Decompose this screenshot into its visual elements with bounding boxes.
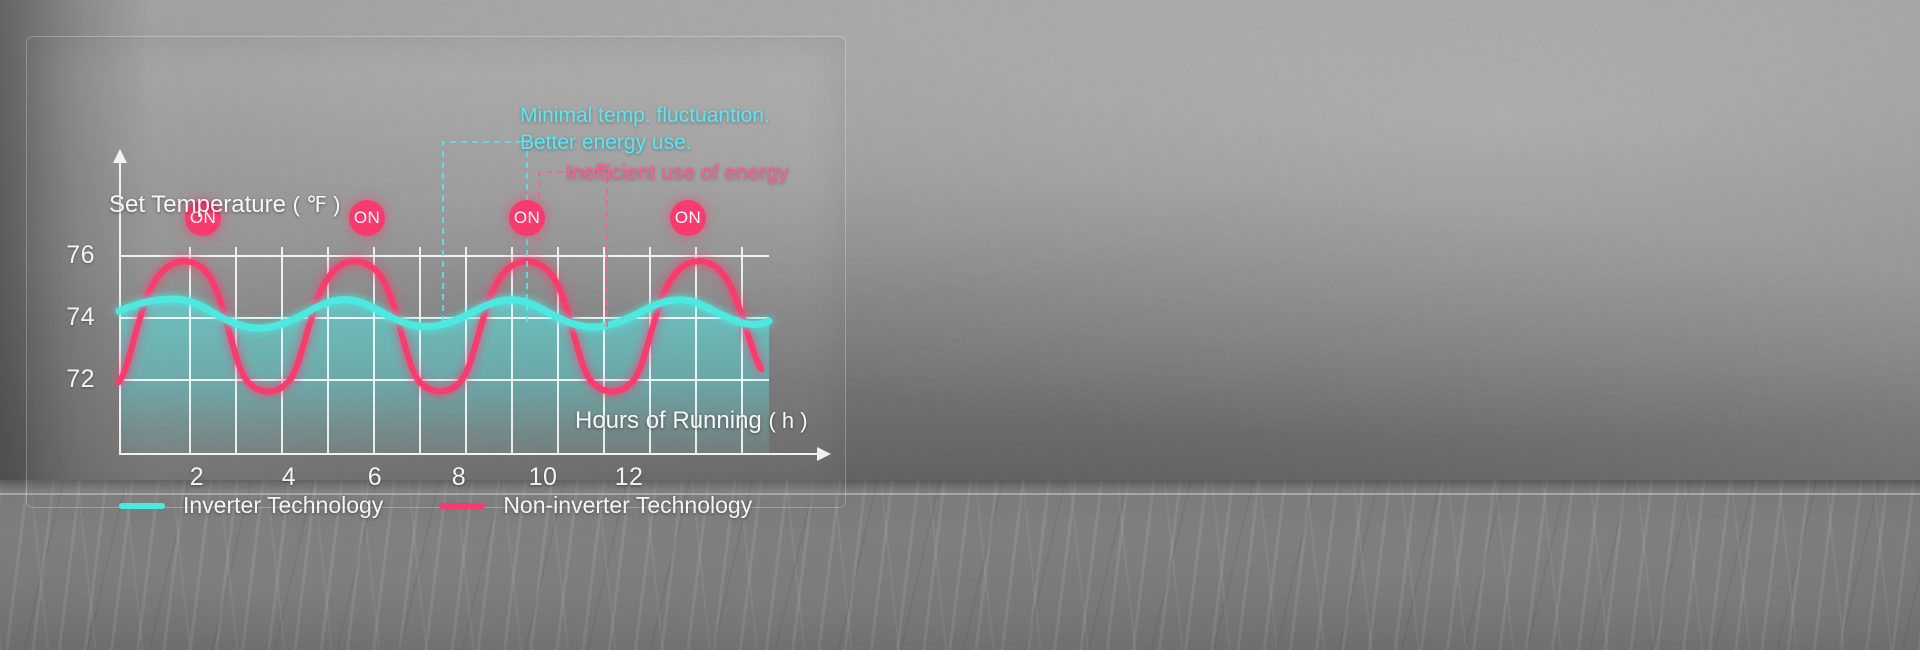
x-tick-label-10: 10: [513, 463, 573, 492]
non-inverter-leader-line: [587, 172, 607, 327]
legend-label-inverter: Inverter Technology: [183, 492, 383, 519]
y-tick-label-76: 76: [47, 241, 95, 270]
x-tick-label-6: 6: [345, 463, 405, 492]
on-badge-label: ON: [514, 208, 540, 228]
x-axis-title: Hours of Running ( h ): [575, 407, 808, 435]
legend-swatch-non-inverter: [439, 503, 485, 509]
y-tick-label-74: 74: [47, 303, 95, 332]
y-axis-title-unit: ( ℉ ): [293, 192, 341, 217]
x-tick-label-12: 12: [599, 463, 659, 492]
inverter-annotation-text: Minimal temp. fluctuantion. Better energ…: [520, 103, 770, 157]
non-inverter-annotation-text: Inefficient use of energy: [566, 160, 789, 187]
x-tick-label-8: 8: [429, 463, 489, 492]
on-badge-label: ON: [675, 208, 701, 228]
on-badge-4: ON: [670, 200, 706, 236]
legend-swatch-inverter: [119, 503, 165, 509]
legend-item-non-inverter[interactable]: Non-inverter Technology: [439, 492, 752, 519]
chart-legend: Inverter Technology Non-inverter Technol…: [119, 492, 808, 519]
legend-item-inverter[interactable]: Inverter Technology: [119, 492, 383, 519]
x-axis-title-text: Hours of Running: [575, 407, 762, 434]
on-badge-2: ON: [349, 200, 385, 236]
on-badge-label: ON: [354, 208, 380, 228]
on-badge-3: ON: [509, 200, 545, 236]
comparison-chart-card: ON ON ON ON 76 74 72 2 4 6 8 10 12: [26, 36, 846, 508]
x-tick-label-2: 2: [167, 463, 227, 492]
legend-label-non-inverter: Non-inverter Technology: [503, 492, 752, 519]
temperature-chart: ON ON ON ON 76 74 72 2 4 6 8 10 12: [27, 37, 845, 507]
y-axis-title: Set Temperature ( ℉ ): [109, 191, 341, 219]
screenshot-stage: ON ON ON ON 76 74 72 2 4 6 8 10 12: [0, 0, 1920, 650]
y-axis-title-text: Set Temperature: [109, 191, 286, 218]
y-tick-label-72: 72: [47, 365, 95, 394]
x-axis-title-unit: ( h ): [768, 408, 807, 433]
x-tick-label-4: 4: [259, 463, 319, 492]
